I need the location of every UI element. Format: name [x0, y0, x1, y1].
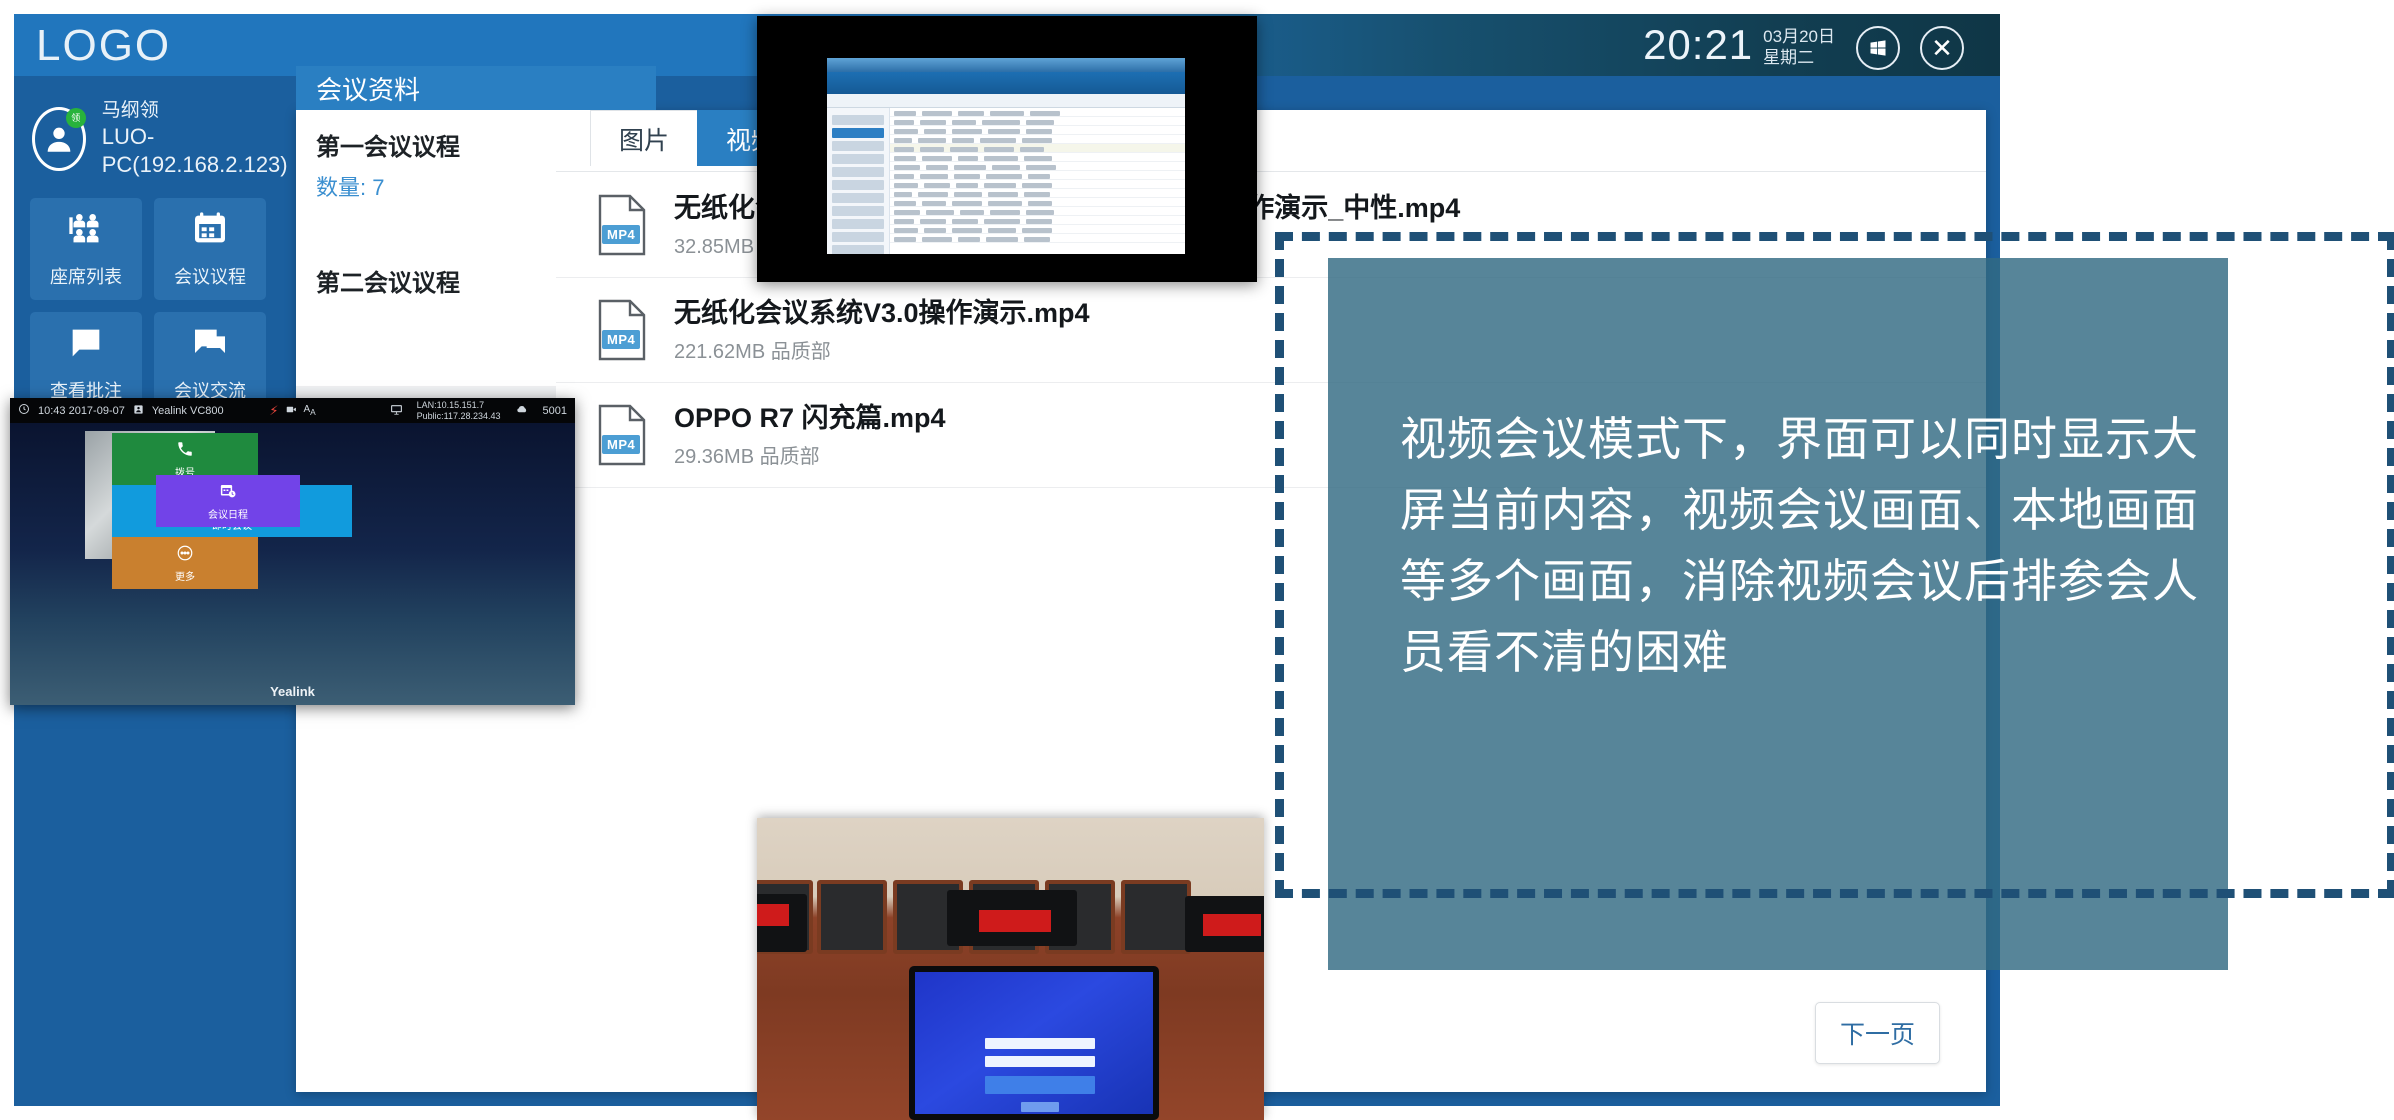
sidebar-item-agenda[interactable]: 会议议程: [154, 198, 266, 300]
tab-images[interactable]: 图片: [590, 110, 698, 166]
file-info: 无纸化会议系统V3.0操作演示.mp4 221.62MB 品质部: [674, 296, 1090, 364]
clock-time: 20:21: [1643, 22, 1753, 68]
tablet-login-screen: [915, 972, 1153, 1114]
extension-number: 5001: [543, 405, 567, 417]
sidebar-item-label: 会议议程: [174, 263, 246, 289]
lightning-icon: ⚡: [269, 403, 278, 419]
meeting-tablet: [909, 966, 1159, 1120]
yealink-tile-label: 会议日程: [208, 506, 248, 521]
avatar: 领: [32, 107, 86, 171]
tablet-username-field: [985, 1038, 1095, 1049]
content-title-bar: 会议资料: [296, 66, 656, 110]
clock-weekday-text: 星期二: [1763, 47, 1835, 68]
clock-date: 03月20日 星期二: [1763, 23, 1835, 68]
clock-date-text: 03月20日: [1763, 26, 1835, 47]
mp4-file-icon: MP4: [596, 194, 648, 256]
close-icon[interactable]: ✕: [1920, 26, 1964, 70]
file-ext-badge: MP4: [602, 225, 640, 244]
lan-address: LAN:10.15.151.7: [417, 400, 501, 411]
mp4-file-icon: MP4: [596, 404, 648, 466]
yealink-status-right: LAN:10.15.151.7 Public:117.28.234.43 500…: [390, 400, 567, 422]
captured-file-grid: [890, 108, 1185, 254]
user-name: 马纲领: [102, 98, 298, 123]
tablet-login-button: [985, 1076, 1095, 1094]
user-host: LUO-PC(192.168.2.123): [102, 123, 298, 179]
file-ext-badge: MP4: [602, 435, 640, 454]
file-meta: 29.36MB 品质部: [674, 440, 946, 469]
yealink-desktop: 拨号 即时会议 更多 会议日程 Yealink: [10, 423, 575, 705]
pager: 下一页: [1815, 1002, 1940, 1064]
agenda-name: 第一会议议程: [316, 132, 536, 164]
user-meta: 马纲领 LUO-PC(192.168.2.123): [102, 98, 298, 179]
captured-nav-pane: [827, 108, 890, 254]
file-meta: 221.62MB 品质部: [674, 335, 1090, 364]
tablet-secondary-button: [1021, 1102, 1059, 1112]
logo: LOGO: [36, 21, 171, 71]
shared-screen-content: [827, 58, 1185, 254]
yealink-status-time: 10:43 2017-09-07: [38, 405, 125, 417]
mp4-file-icon: MP4: [596, 299, 648, 361]
chat-icon: [190, 323, 230, 368]
captured-window-toolbar: [827, 94, 1185, 108]
calendar-clock-icon: [219, 482, 237, 503]
next-page-button[interactable]: 下一页: [1815, 1002, 1940, 1064]
seat-list-icon: [66, 209, 106, 254]
shared-screen-thumbnail[interactable]: [757, 16, 1257, 282]
file-size: 29.36MB: [674, 446, 754, 468]
file-info: OPPO R7 闪充篇.mp4 29.36MB 品质部: [674, 401, 946, 469]
agenda-count-label: 数量:: [316, 175, 366, 200]
clock-icon: [18, 403, 30, 418]
avatar-badge: 领: [66, 108, 86, 128]
yealink-brand: Yealink: [10, 684, 575, 699]
agenda-item[interactable]: 第二会议议程: [296, 228, 556, 326]
yealink-network-info: LAN:10.15.151.7 Public:117.28.234.43: [417, 400, 501, 422]
sidebar-item-label: 座席列表: [50, 263, 122, 289]
tablet-password-field: [985, 1056, 1095, 1067]
file-ext-badge: MP4: [602, 330, 640, 349]
yealink-device-screenshot[interactable]: 10:43 2017-09-07 Yealink VC800 ⚡ AA LAN:…: [10, 398, 575, 705]
more-dots-icon: [176, 544, 194, 565]
page-title: 会议资料: [316, 70, 420, 107]
yealink-tile-schedule[interactable]: 会议日程: [156, 475, 300, 527]
cloud-icon: [515, 402, 529, 419]
file-name: OPPO R7 闪充篇.mp4: [674, 401, 946, 435]
agenda-name: 第二会议议程: [316, 268, 536, 300]
annotation-icon: [66, 323, 106, 368]
sidebar-item-seat-list[interactable]: 座席列表: [30, 198, 142, 300]
yealink-device-name: Yealink VC800: [152, 405, 224, 417]
meeting-room-photo[interactable]: [757, 818, 1264, 1120]
agenda-item[interactable]: 第一会议议程 数量: 7: [296, 110, 556, 228]
phone-icon: [176, 440, 194, 461]
agenda-count: 数量: 7: [316, 170, 536, 202]
file-size: 32.85MB: [674, 236, 754, 258]
file-dept: 品质部: [771, 341, 831, 363]
input-method-icon: AA: [303, 404, 315, 417]
yealink-status-left: 10:43 2017-09-07 Yealink VC800: [18, 403, 224, 418]
file-name: 无纸化会议系统V3.0操作演示.mp4: [674, 296, 1090, 330]
user-profile[interactable]: 领 马纲领 LUO-PC(192.168.2.123): [32, 98, 298, 179]
network-icon: [390, 403, 403, 419]
yealink-tile-label: 更多: [175, 568, 195, 583]
agenda-calendar-icon: [190, 209, 230, 254]
tablet-login-title: [915, 1006, 1153, 1015]
yealink-tile-more[interactable]: 更多: [112, 537, 258, 589]
public-address: Public:117.28.234.43: [417, 411, 501, 422]
yealink-status-bar: 10:43 2017-09-07 Yealink VC800 ⚡ AA LAN:…: [10, 398, 575, 423]
yealink-status-middle: ⚡ AA: [269, 403, 315, 419]
camera-icon: [285, 404, 296, 418]
captured-window-ribbon: [827, 72, 1185, 94]
file-size: 221.62MB: [674, 341, 765, 363]
clock: 20:21 03月20日 星期二: [1643, 22, 1835, 68]
agenda-count-value: 7: [372, 175, 384, 200]
captured-window-titlebar: [827, 58, 1185, 72]
callout-dashed-frame: [1275, 232, 2394, 898]
captured-window-body: [827, 108, 1185, 254]
file-dept: 品质部: [760, 446, 820, 468]
windows-icon[interactable]: [1856, 26, 1900, 70]
device-icon: [133, 404, 144, 418]
